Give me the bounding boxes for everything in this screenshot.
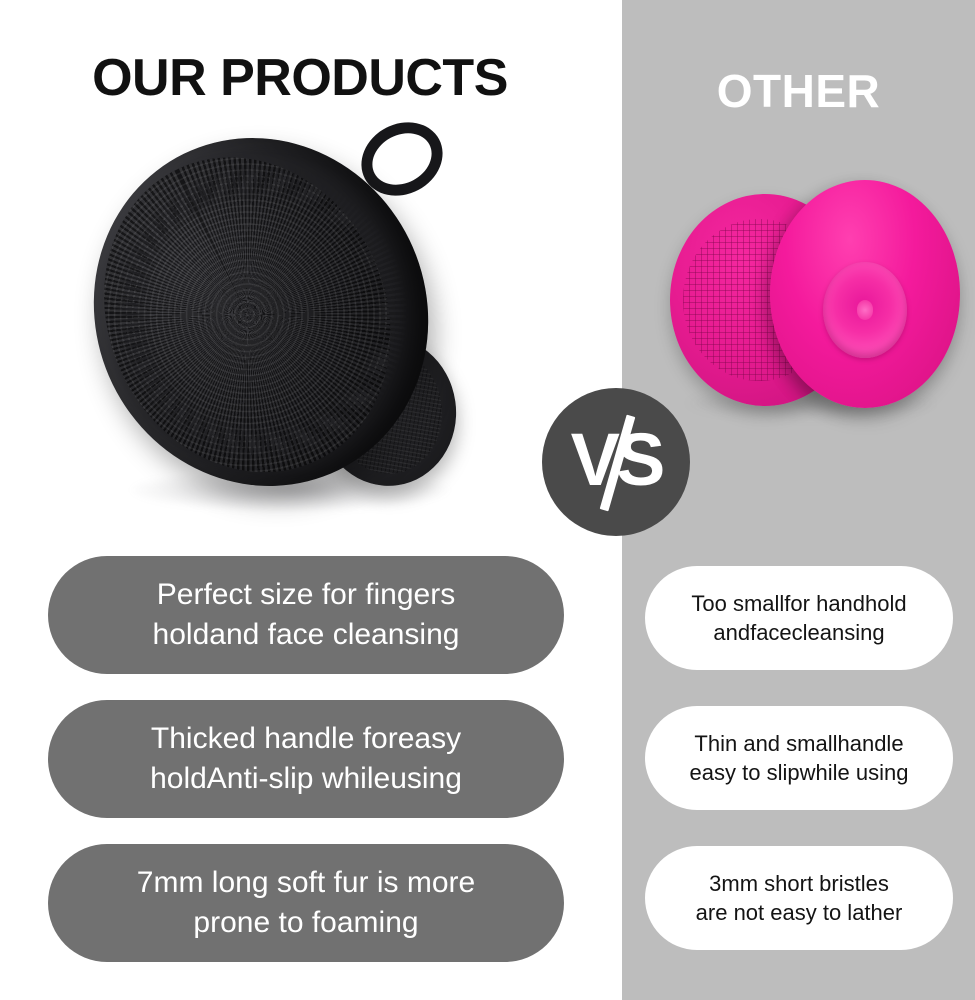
feature-pill-line: holdand face cleansing	[153, 615, 460, 655]
drawback-pill-line: andfacecleansing	[691, 618, 906, 647]
our-product-photo	[90, 118, 510, 518]
feature-pill-line: 7mm long soft fur is more	[137, 863, 475, 903]
right-column-title: OTHER	[622, 68, 975, 114]
product-comparison-infographic: OUR PRODUCTS OTHER VS	[0, 0, 975, 1000]
feature-pill-line: Thicked handle foreasy	[150, 719, 462, 759]
drawback-pill: Too smallfor handhold andfacecleansing	[645, 566, 953, 670]
drawback-pill-line: Too smallfor handhold	[691, 589, 906, 618]
left-column-title: OUR PRODUCTS	[0, 52, 600, 104]
other-product-feature-list: Too smallfor handhold andfacecleansing T…	[645, 566, 953, 986]
pink-pad-smooth-icon	[770, 180, 960, 408]
drawback-pill: Thin and smallhandle easy to slipwhile u…	[645, 706, 953, 810]
drawback-pill-line: easy to slipwhile using	[690, 758, 909, 787]
versus-badge: VS	[542, 388, 690, 536]
feature-pill-line: prone to foaming	[137, 903, 475, 943]
drawback-pill-line: are not easy to lather	[696, 898, 903, 927]
drawback-pill-line: Thin and smallhandle	[690, 729, 909, 758]
feature-pill: Perfect size for fingers holdand face cl…	[48, 556, 564, 674]
our-product-feature-list: Perfect size for fingers holdand face cl…	[48, 556, 564, 988]
feature-pill: 7mm long soft fur is more prone to foami…	[48, 844, 564, 962]
feature-pill: Thicked handle foreasy holdAnti-slip whi…	[48, 700, 564, 818]
other-product-photo	[662, 178, 962, 428]
feature-pill-line: holdAnti-slip whileusing	[150, 759, 462, 799]
feature-pill-line: Perfect size for fingers	[153, 575, 460, 615]
drawback-pill-line: 3mm short bristles	[696, 869, 903, 898]
pink-pad-knob-center	[857, 300, 874, 319]
drawback-pill: 3mm short bristles are not easy to lathe…	[645, 846, 953, 950]
pink-pad-knob	[823, 262, 907, 358]
